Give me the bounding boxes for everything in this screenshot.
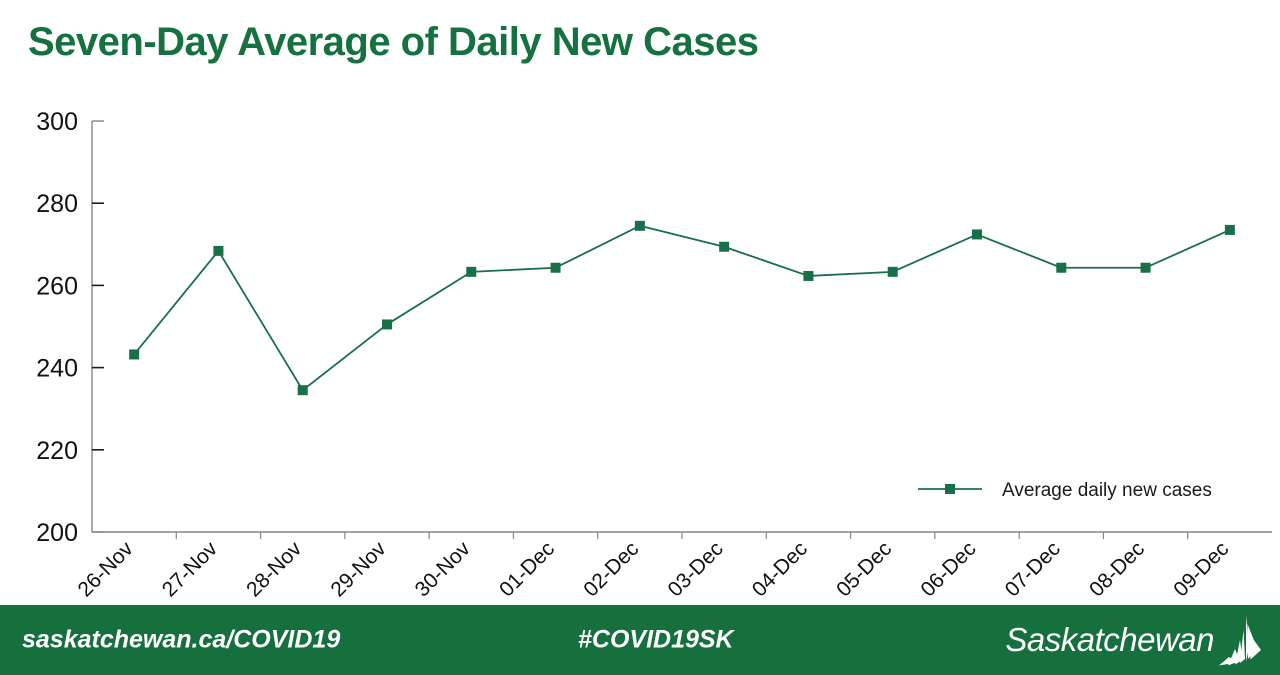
x-axis-tick-label: 01-Dec — [495, 537, 559, 601]
data-point-marker[interactable] — [719, 242, 729, 252]
x-axis-tick-label: 03-Dec — [664, 537, 728, 601]
data-point-marker[interactable] — [466, 267, 476, 277]
x-axis-tick-labels: 26-Nov27-Nov28-Nov29-Nov30-Nov01-Dec02-D… — [74, 537, 1234, 601]
axis-layer — [92, 121, 1272, 539]
data-point-marker[interactable] — [551, 263, 561, 273]
x-axis-tick-label: 26-Nov — [74, 537, 138, 601]
data-point-marker[interactable] — [635, 221, 645, 231]
footer-bar: saskatchewan.ca/COVID19 #COVID19SK Saska… — [0, 605, 1280, 675]
legend-label: Average daily new cases — [1002, 480, 1212, 501]
y-axis-tick-label: 280 — [36, 190, 78, 218]
footer-hashtag: #COVID19SK — [578, 626, 734, 655]
x-axis-tick-label: 27-Nov — [158, 537, 222, 601]
data-point-marker[interactable] — [213, 246, 223, 256]
x-axis-tick-label: 04-Dec — [748, 537, 812, 601]
x-axis-tick-label: 05-Dec — [832, 537, 896, 601]
data-point-marker[interactable] — [803, 271, 813, 281]
wheat-sheaf-icon — [1216, 614, 1262, 666]
x-axis-tick-label: 30-Nov — [411, 537, 475, 601]
footer-url[interactable]: saskatchewan.ca/COVID19 — [22, 626, 340, 655]
data-point-marker[interactable] — [1056, 263, 1066, 273]
data-point-marker[interactable] — [1141, 263, 1151, 273]
x-axis-tick-label: 07-Dec — [1001, 537, 1065, 601]
x-axis-tick-label: 29-Nov — [326, 537, 390, 601]
chart-legend: Average daily new cases — [918, 480, 1212, 501]
y-axis-tick-label: 300 — [36, 108, 78, 136]
data-series-layer — [129, 221, 1235, 395]
data-point-marker[interactable] — [972, 229, 982, 239]
data-point-marker[interactable] — [1225, 225, 1235, 235]
x-axis-tick-label: 06-Dec — [916, 537, 980, 601]
data-point-marker[interactable] — [382, 319, 392, 329]
legend-marker — [945, 484, 955, 494]
line-chart-svg: 200220240260280300 26-Nov27-Nov28-Nov29-… — [0, 0, 1280, 605]
y-axis-tick-label: 240 — [36, 355, 78, 383]
saskatchewan-logo: Saskatchewan — [1005, 614, 1262, 666]
logo-wordmark: Saskatchewan — [1005, 621, 1214, 659]
x-axis-tick-label: 09-Dec — [1169, 537, 1233, 601]
x-axis-tick-label: 28-Nov — [242, 537, 306, 601]
data-point-marker[interactable] — [888, 267, 898, 277]
y-axis-tick-label: 200 — [36, 519, 78, 547]
data-point-marker[interactable] — [129, 349, 139, 359]
series-line — [134, 226, 1230, 390]
y-axis-tick-label: 220 — [36, 437, 78, 465]
x-axis-tick-label: 08-Dec — [1085, 537, 1149, 601]
data-point-marker[interactable] — [298, 385, 308, 395]
y-axis-tick-label: 260 — [36, 272, 78, 300]
chart-plot-area: 200220240260280300 26-Nov27-Nov28-Nov29-… — [0, 0, 1280, 605]
chart-page: Seven-Day Average of Daily New Cases 200… — [0, 0, 1280, 675]
x-axis-tick-label: 02-Dec — [579, 537, 643, 601]
y-axis-tick-labels: 200220240260280300 — [36, 108, 78, 547]
